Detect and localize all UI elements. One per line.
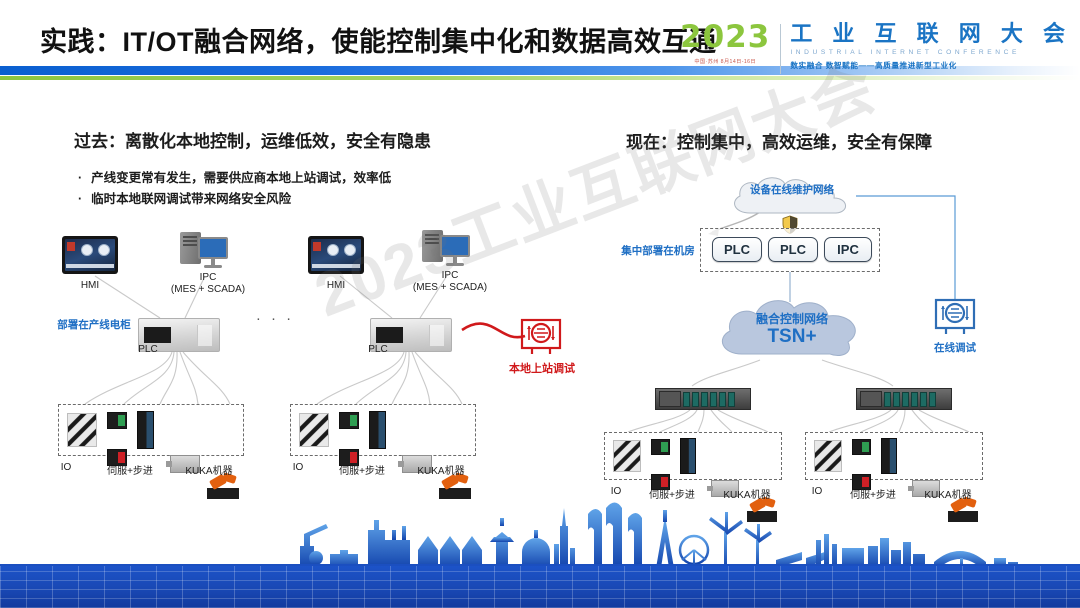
online-debug-label: 在线调试 xyxy=(915,340,995,355)
controller-ipc: IPC xyxy=(824,237,872,262)
now-section-heading: 现在：控制集中，高效运维，安全有保障 xyxy=(626,128,932,153)
slide-footer xyxy=(0,498,1080,608)
past-bullet-list: 产线变更常有发生，需要供应商本地上站调试，效率低 临时本地联网调试带来网络安全风… xyxy=(78,168,391,210)
rack-slot xyxy=(893,392,900,407)
control-cloud-label-line1: 融合控制网络 xyxy=(712,310,872,327)
plc-label: PLC xyxy=(358,344,398,355)
rack-slot xyxy=(920,392,927,407)
rack-slot xyxy=(683,392,690,407)
ground-grid-plane xyxy=(0,566,1080,608)
servo-drive-icon xyxy=(369,411,386,449)
hmi-indicator xyxy=(313,242,321,251)
past-section-heading: 过去：离散化本地控制，运维低效，安全有隐患 xyxy=(74,127,431,152)
ipc-device-icon xyxy=(422,230,476,268)
maintenance-cloud-label: 设备在线维护网络 xyxy=(724,182,860,197)
device-label-robot: KUKA机器 xyxy=(174,462,244,477)
ipc-label-line1: IPC xyxy=(160,272,256,283)
hmi-label: HMI xyxy=(62,280,118,291)
rack-slot xyxy=(719,392,726,407)
plc-label: PLC xyxy=(128,344,168,355)
ipc-monitor-icon xyxy=(198,237,228,259)
io-module-icon xyxy=(299,413,329,447)
device-label-servo: 伺服+步进 xyxy=(98,462,162,477)
ipc-label-line1: IPC xyxy=(402,270,498,281)
io-module-icon xyxy=(613,440,641,472)
rack-cpu-module xyxy=(860,391,882,407)
hmi-screen xyxy=(311,239,361,271)
deployment-note-server-room: 集中部署在机房 xyxy=(612,243,704,258)
io-rack-icon xyxy=(856,388,952,410)
rack-slot xyxy=(701,392,708,407)
online-debug-tool-icon xyxy=(932,296,978,338)
logo-tagline: 数实融合 数智赋能——高质量推进新型工业化 xyxy=(790,60,1072,71)
logo-year: 2023 xyxy=(680,22,770,53)
hmi-indicator xyxy=(67,242,75,251)
hmi-gauge-icon xyxy=(81,244,93,256)
io-module-icon xyxy=(67,413,97,447)
hmi-gauge-icon xyxy=(344,244,356,256)
rack-slot xyxy=(902,392,909,407)
rack-cpu-module xyxy=(659,391,681,407)
ipc-monitor-base xyxy=(204,265,222,268)
rack-slot xyxy=(884,392,891,407)
hmi-gauge-icon xyxy=(327,244,339,256)
pushbutton-green-icon xyxy=(852,439,871,455)
bullet-item: 产线变更常有发生，需要供应商本地上站调试，效率低 xyxy=(78,168,391,189)
pushbutton-green-icon xyxy=(107,412,127,429)
bullet-item: 临时本地联网调试带来网络安全风险 xyxy=(78,189,391,210)
page-title: 实践：IT/OT融合网络，使能控制集中化和数据高效互通 xyxy=(40,20,717,59)
device-label-servo: 伺服+步进 xyxy=(330,462,394,477)
device-label-robot: KUKA机器 xyxy=(406,462,476,477)
logo-year-subtitle: 中国·苏州 8月14日-16日 xyxy=(680,58,770,65)
rack-slot xyxy=(710,392,717,407)
hmi-statusbar xyxy=(66,264,114,268)
hmi-screen xyxy=(65,239,115,271)
ipc-monitor-base xyxy=(446,263,464,266)
device-group-box xyxy=(805,432,983,480)
device-group-box xyxy=(604,432,782,480)
controller-plc-1: PLC xyxy=(712,237,762,262)
slide-header: 实践：IT/OT融合网络，使能控制集中化和数据高效互通 2023 中国·苏州 8… xyxy=(0,0,1080,92)
hmi-device-icon xyxy=(308,236,364,274)
logo-name-en: INDUSTRIAL INTERNET CONFERENCE xyxy=(790,49,1072,56)
io-module-icon xyxy=(814,440,842,472)
header-rule-white xyxy=(0,80,1080,83)
servo-drive-icon xyxy=(137,411,154,449)
local-debug-tool-icon xyxy=(518,316,564,358)
pushbutton-green-icon xyxy=(339,412,359,429)
logo-divider xyxy=(780,24,781,74)
rack-slot xyxy=(728,392,735,407)
logo-name-cn: 工 业 互 联 网 大 会 xyxy=(790,22,1072,46)
controller-plc-2: PLC xyxy=(768,237,818,262)
hmi-statusbar xyxy=(312,264,360,268)
logo-year-block: 2023 中国·苏州 8月14日-16日 xyxy=(680,22,780,65)
io-rack-icon xyxy=(655,388,751,410)
slide-root: 实践：IT/OT融合网络，使能控制集中化和数据高效互通 2023 中国·苏州 8… xyxy=(0,0,1080,608)
rack-slot xyxy=(692,392,699,407)
pushbutton-green-icon xyxy=(651,439,670,455)
servo-drive-icon xyxy=(680,438,696,474)
device-label-io: IO xyxy=(280,462,316,473)
deployment-note-cabinet: 部署在产线电柜 xyxy=(44,317,144,332)
device-group-box xyxy=(290,404,476,456)
rack-slot xyxy=(911,392,918,407)
rack-slot xyxy=(929,392,936,407)
servo-drive-icon xyxy=(881,438,897,474)
device-group-box xyxy=(58,404,244,456)
cluster-ellipsis: · · · xyxy=(250,310,300,327)
conference-logo: 2023 中国·苏州 8月14日-16日 工 业 互 联 网 大 会 INDUS… xyxy=(680,22,1072,80)
ipc-monitor-icon xyxy=(440,235,470,257)
control-cloud-label-line2: TSN+ xyxy=(712,326,872,348)
ipc-device-icon xyxy=(180,232,234,270)
local-debug-label: 本地上站调试 xyxy=(492,360,592,376)
hmi-gauge-icon xyxy=(98,244,110,256)
device-label-io: IO xyxy=(48,462,84,473)
logo-text-block: 工 业 互 联 网 大 会 INDUSTRIAL INTERNET CONFER… xyxy=(790,22,1072,71)
hmi-label: HMI xyxy=(306,280,366,291)
ipc-label-line2: (MES + SCADA) xyxy=(152,284,264,295)
ipc-label-line2: (MES + SCADA) xyxy=(394,282,506,293)
city-skyline-graphic xyxy=(0,496,1080,568)
hmi-device-icon xyxy=(62,236,118,274)
